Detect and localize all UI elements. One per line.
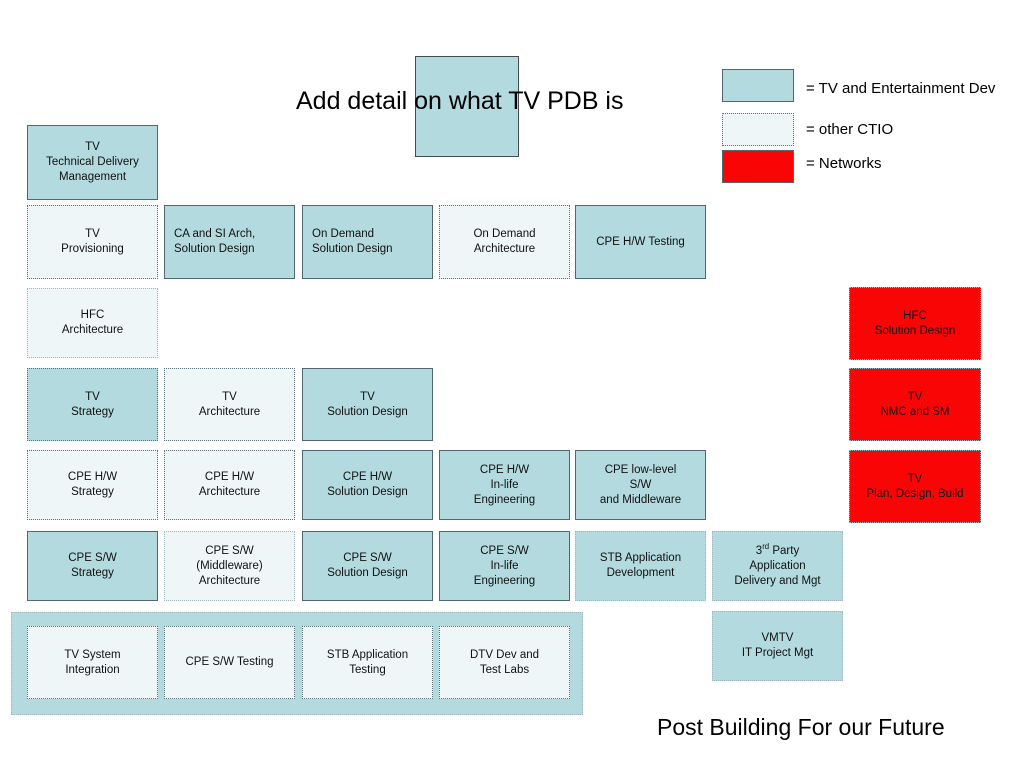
legend-swatch-other-ctio	[722, 113, 794, 146]
node-label: DTV Dev and Test Labs	[444, 648, 565, 678]
legend-swatch-networks	[722, 150, 794, 183]
node-label: TV Plan, Design, Build	[854, 472, 976, 502]
node-stb-application-testing[interactable]: STB Application Testing	[302, 626, 433, 699]
node-hfc-solution-design[interactable]: HFC Solution Design	[849, 287, 981, 360]
node-on-demand-architecture[interactable]: On Demand Architecture	[439, 205, 570, 279]
node-third-party-application-delivery-and-mgt[interactable]: 3rd Party Application Delivery and Mgt	[712, 531, 843, 601]
node-tv-strategy[interactable]: TV Strategy	[27, 368, 158, 441]
node-stb-application-development[interactable]: STB Application Development	[575, 531, 706, 601]
node-tv-provisioning[interactable]: TV Provisioning	[27, 205, 158, 279]
node-tv-technical-delivery-management[interactable]: TV Technical Delivery Management	[27, 125, 158, 200]
node-on-demand-solution-design[interactable]: On Demand Solution Design	[302, 205, 433, 279]
legend-label-other-ctio: = other CTIO	[806, 121, 893, 139]
legend-label-tv-and-entertainment-dev: = TV and Entertainment Dev	[806, 80, 995, 98]
node-dtv-dev-and-test-labs[interactable]: DTV Dev and Test Labs	[439, 626, 570, 699]
node-label: TV Solution Design	[307, 390, 428, 420]
node-cpe-sw-testing[interactable]: CPE S/W Testing	[164, 626, 295, 699]
node-label: CPE S/W (Middleware) Architecture	[169, 544, 290, 589]
node-vmtv-it-project-mgt[interactable]: VMTV IT Project Mgt	[712, 611, 843, 681]
node-label: CPE H/W Testing	[580, 235, 701, 250]
node-label: TV Technical Delivery Management	[32, 140, 153, 185]
node-tv-system-integration[interactable]: TV System Integration	[27, 626, 158, 699]
node-ca-and-si-arch-solution-design[interactable]: CA and SI Arch, Solution Design	[164, 205, 295, 279]
page-title: Add detail on what TV PDB is	[296, 86, 624, 116]
node-label: VMTV IT Project Mgt	[717, 631, 838, 661]
node-label: CPE S/W Testing	[169, 655, 290, 670]
node-label: CA and SI Arch, Solution Design	[174, 227, 290, 257]
node-label: TV System Integration	[32, 648, 153, 678]
node-tv-architecture[interactable]: TV Architecture	[164, 368, 295, 441]
node-label: CPE S/W Solution Design	[307, 551, 428, 581]
node-label: CPE H/W In-life Engineering	[444, 463, 565, 508]
node-cpe-hw-strategy[interactable]: CPE H/W Strategy	[27, 450, 158, 520]
node-label: CPE S/W Strategy	[32, 551, 153, 581]
capability-map-canvas: Add detail on what TV PDB is = TV and En…	[0, 0, 1024, 768]
node-cpe-sw-strategy[interactable]: CPE S/W Strategy	[27, 531, 158, 601]
node-hfc-architecture[interactable]: HFC Architecture	[27, 288, 158, 358]
node-label: TV Strategy	[32, 390, 153, 420]
node-label: TV Provisioning	[32, 227, 153, 257]
node-label: TV Architecture	[169, 390, 290, 420]
legend-swatch-tv-and-entertainment-dev	[722, 69, 794, 102]
legend-label-networks: = Networks	[806, 155, 881, 173]
node-label: CPE H/W Solution Design	[307, 470, 428, 500]
node-cpe-hw-architecture[interactable]: CPE H/W Architecture	[164, 450, 295, 520]
third-party-rest: Party Application Delivery and Mgt	[734, 545, 820, 587]
node-label: On Demand Architecture	[444, 227, 565, 257]
node-tv-solution-design[interactable]: TV Solution Design	[302, 368, 433, 441]
node-label: CPE H/W Architecture	[169, 470, 290, 500]
node-label: On Demand Solution Design	[312, 227, 428, 257]
node-label: TV NMC and SM	[854, 390, 976, 420]
node-tv-plan-design-build[interactable]: TV Plan, Design, Build	[849, 450, 981, 523]
footer-tagline: Post Building For our Future	[657, 713, 945, 741]
node-cpe-hw-in-life-engineering[interactable]: CPE H/W In-life Engineering	[439, 450, 570, 520]
node-cpe-sw-middleware-architecture[interactable]: CPE S/W (Middleware) Architecture	[164, 531, 295, 601]
node-label: 3rd Party Application Delivery and Mgt	[717, 544, 838, 589]
node-label: CPE S/W In-life Engineering	[444, 544, 565, 589]
node-label: HFC Architecture	[32, 308, 153, 338]
node-label: STB Application Testing	[307, 648, 428, 678]
node-label: CPE low-level S/W and Middleware	[580, 463, 701, 508]
node-cpe-sw-in-life-engineering[interactable]: CPE S/W In-life Engineering	[439, 531, 570, 601]
node-cpe-hw-testing[interactable]: CPE H/W Testing	[575, 205, 706, 279]
node-cpe-low-level-sw-and-middleware[interactable]: CPE low-level S/W and Middleware	[575, 450, 706, 520]
node-label: STB Application Development	[580, 551, 701, 581]
node-cpe-hw-solution-design[interactable]: CPE H/W Solution Design	[302, 450, 433, 520]
node-cpe-sw-solution-design[interactable]: CPE S/W Solution Design	[302, 531, 433, 601]
node-label: HFC Solution Design	[854, 309, 976, 339]
node-tv-nmc-and-sm[interactable]: TV NMC and SM	[849, 368, 981, 441]
node-label: CPE H/W Strategy	[32, 470, 153, 500]
